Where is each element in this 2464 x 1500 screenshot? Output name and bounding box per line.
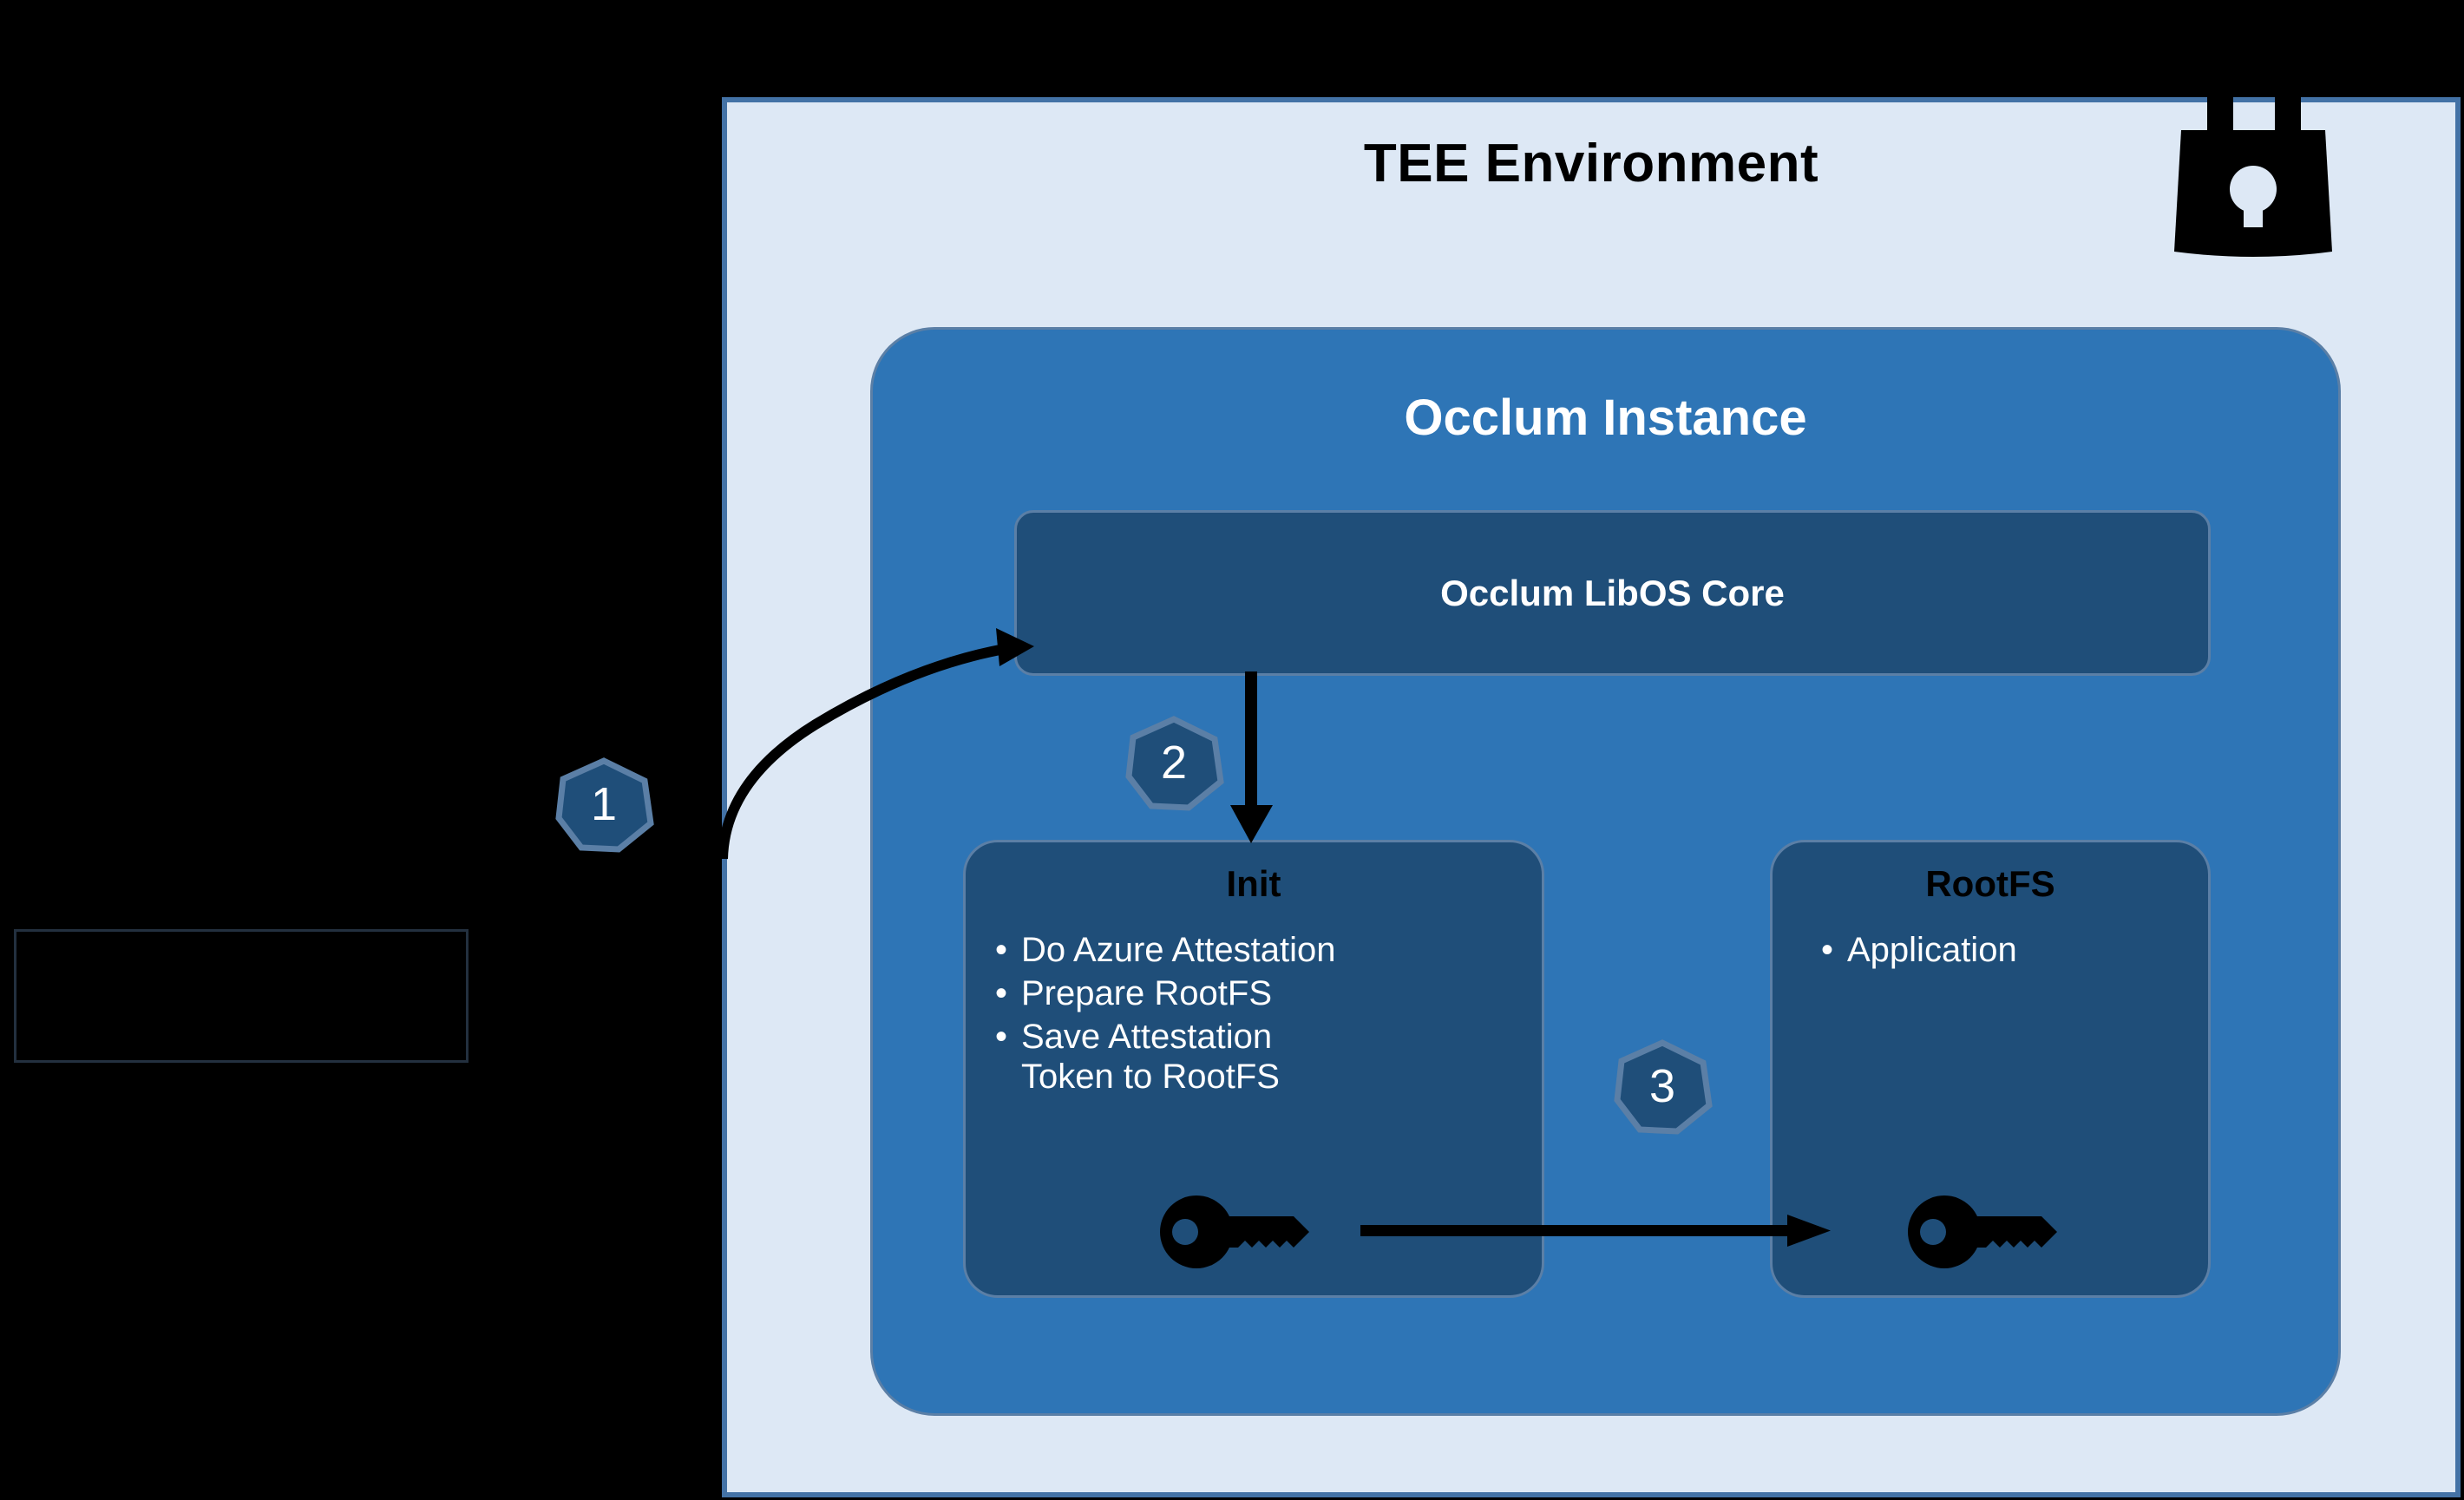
arrow-libos-core-to-init xyxy=(1219,659,1288,859)
bullet-glyph: • xyxy=(981,1018,1021,1057)
step-badge-1-number: 1 xyxy=(554,757,654,853)
list-item: • Prepare RootFS xyxy=(981,974,1537,1013)
arrow-init-key-to-rootfs-key xyxy=(1353,1206,1839,1258)
key-icon xyxy=(1904,1190,2064,1274)
list-item-label: Save Attestation Token to RootFS xyxy=(1021,1018,1537,1096)
list-item-label: Application xyxy=(1847,931,2189,970)
occlum-instance-title: Occlum Instance xyxy=(873,389,2338,447)
rootfs-bullet-list: • Application xyxy=(1807,931,2189,974)
list-item: • Application xyxy=(1807,931,2189,970)
rootfs-panel-title: RootFS xyxy=(1773,863,2208,905)
padlock-icon xyxy=(2162,50,2344,259)
init-bullet-list: • Do Azure Attestation • Prepare RootFS … xyxy=(981,931,1537,1101)
init-panel-title: Init xyxy=(966,863,1542,905)
step-badge-2-number: 2 xyxy=(1124,716,1224,811)
key-icon xyxy=(1157,1190,1316,1274)
curved-arrow-into-libos-core xyxy=(694,564,1058,868)
occlum-libos-core-box: Occlum LibOS Core xyxy=(1014,510,2211,676)
occlum-libos-core-label: Occlum LibOS Core xyxy=(1440,573,1785,614)
list-item-label: Prepare RootFS xyxy=(1021,974,1537,1013)
step-badge-3-number: 3 xyxy=(1612,1039,1713,1135)
step-badge-2: 2 xyxy=(1124,716,1224,811)
list-item-label: Do Azure Attestation xyxy=(1021,931,1537,970)
list-item: • Save Attestation Token to RootFS xyxy=(981,1018,1537,1096)
step-badge-1: 1 xyxy=(554,757,654,853)
bullet-glyph: • xyxy=(981,974,1021,1013)
list-item: • Do Azure Attestation xyxy=(981,931,1537,970)
bullet-glyph: • xyxy=(981,931,1021,970)
step-badge-3: 3 xyxy=(1612,1039,1713,1135)
bullet-glyph: • xyxy=(1807,931,1847,970)
left-placeholder-box xyxy=(14,929,469,1063)
